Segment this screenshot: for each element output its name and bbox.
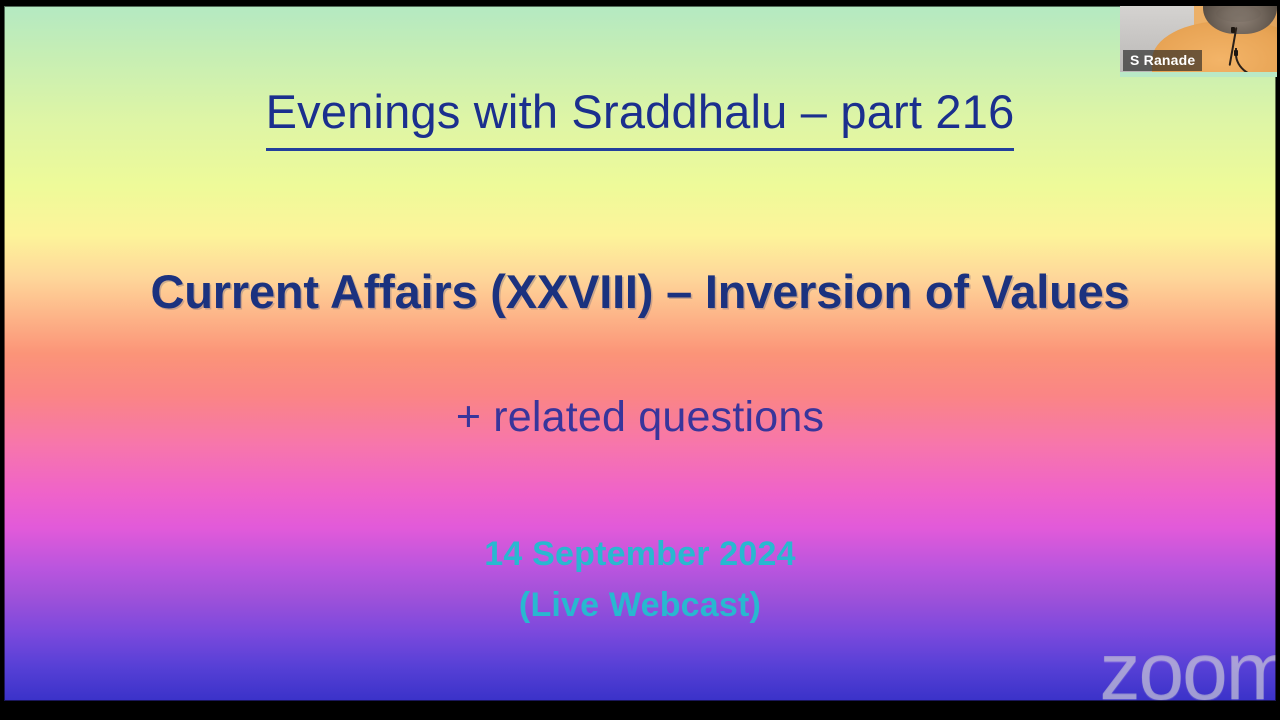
left-letterbox-bar bbox=[0, 0, 4, 720]
slide-webcast-label: (Live Webcast) bbox=[4, 586, 1276, 625]
zoom-watermark: zoom bbox=[1099, 631, 1276, 701]
slide-heading: Current Affairs (XXVIII) – Inversion of … bbox=[4, 264, 1276, 319]
microphone-clip-icon bbox=[1231, 27, 1235, 33]
slide-title: Evenings with Sraddhalu – part 216 bbox=[4, 84, 1276, 139]
zoom-meeting-screen: Evenings with Sraddhalu – part 216 Curre… bbox=[0, 0, 1280, 720]
shared-slide: Evenings with Sraddhalu – part 216 Curre… bbox=[4, 6, 1276, 701]
microphone-clip-lower-icon bbox=[1234, 50, 1238, 56]
video-person-hair bbox=[1216, 5, 1261, 22]
top-letterbox-bar bbox=[0, 0, 1280, 6]
slide-title-text: Evenings with Sraddhalu – part 216 bbox=[266, 85, 1015, 151]
participant-video-tile[interactable]: S Ranade bbox=[1120, 5, 1280, 77]
video-tile-bottom-edge bbox=[1120, 72, 1280, 77]
slide-subheading: + related questions bbox=[4, 393, 1276, 442]
participant-name-label: S Ranade bbox=[1123, 50, 1202, 71]
bottom-letterbox-bar bbox=[0, 702, 1280, 720]
slide-date: 14 September 2024 bbox=[4, 535, 1276, 574]
